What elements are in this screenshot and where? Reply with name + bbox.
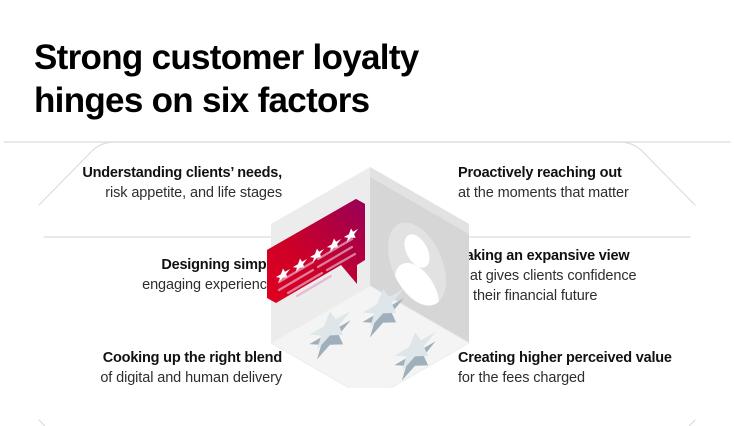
- factor-right-3-headline: Creating higher perceived value: [458, 348, 672, 368]
- factor-right-3-subline: for the fees charged: [458, 368, 672, 388]
- factor-left-1: Understanding clients’ needs, risk appet…: [82, 163, 282, 203]
- factor-left-1-headline: Understanding clients’ needs,: [82, 163, 282, 183]
- factor-right-3: Creating higher perceived value for the …: [458, 348, 672, 388]
- infographic-root: Strong customer loyalty hinges on six fa…: [0, 0, 734, 426]
- isometric-loyalty-cube-illustration: [255, 138, 487, 388]
- factor-left-1-subline: risk appetite, and life stages: [82, 183, 282, 203]
